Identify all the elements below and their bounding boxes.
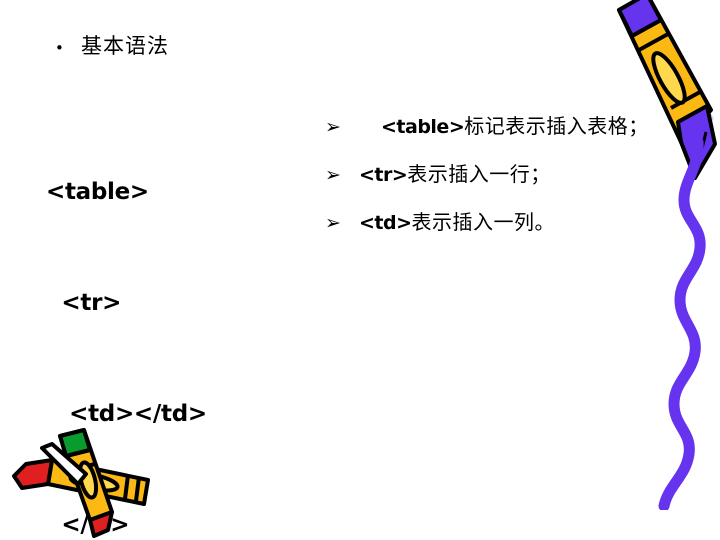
page-title: 基本语法: [81, 30, 169, 60]
list-item-description: 表示插入一行；: [407, 162, 551, 186]
list-item: ➢ <tr>表示插入一行；: [325, 158, 720, 206]
code-line-tr-open: <tr>: [46, 285, 207, 322]
list-item-description: 标记表示插入表格；: [464, 114, 649, 138]
list-item-text: <td>表示插入一列。: [359, 206, 555, 235]
arrow-bullet-icon: ➢: [325, 118, 359, 137]
list-item-description: 表示插入一列。: [412, 210, 556, 234]
code-tag-tr: <tr>: [359, 164, 407, 186]
list-item-text: <table>标记表示插入表格；: [381, 110, 649, 139]
list-item: ➢ <table>标记表示插入表格；: [325, 110, 720, 158]
html-code-sample: <table> <tr> <td></td> </tr> </table>: [46, 100, 207, 540]
title-bullet-icon: •: [55, 41, 81, 56]
code-line-table-open: <table>: [46, 174, 207, 211]
code-line-tr-close: </tr>: [46, 507, 207, 540]
explanation-list: ➢ <table>标记表示插入表格； ➢ <tr>表示插入一行； ➢ <td>表…: [325, 110, 720, 254]
code-line-td: <td></td>: [46, 396, 207, 433]
arrow-bullet-icon: ➢: [325, 166, 359, 185]
code-tag-td: <td>: [359, 212, 412, 234]
slide-title-row: • 基本语法: [55, 30, 169, 60]
presentation-slide: • 基本语法 <table> <tr> <td></td> </tr> </ta…: [0, 0, 720, 540]
list-item: ➢ <td>表示插入一列。: [325, 206, 720, 254]
code-tag-table: <table>: [381, 116, 464, 138]
arrow-bullet-icon: ➢: [325, 214, 359, 233]
list-item-text: <tr>表示插入一行；: [359, 158, 551, 187]
